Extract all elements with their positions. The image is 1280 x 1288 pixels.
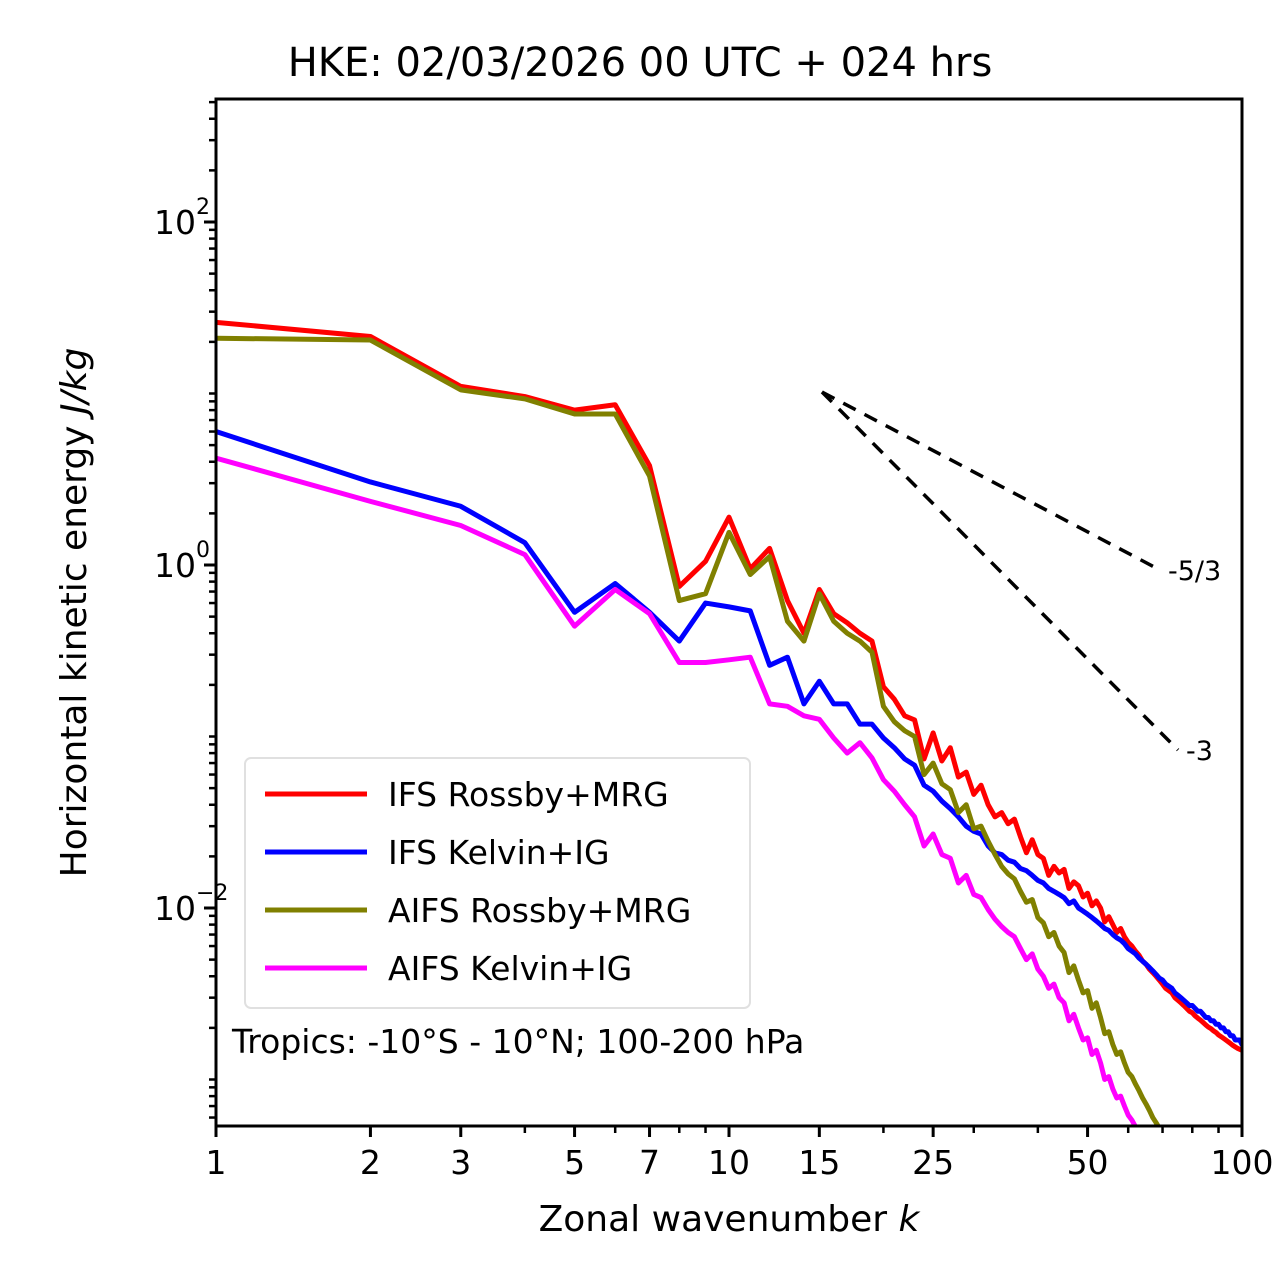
x-tick-label-3: 3 bbox=[450, 1143, 471, 1182]
y-tick-label-exponent: 2 bbox=[196, 195, 210, 220]
reference-slope-line-3 bbox=[822, 392, 1178, 750]
x-tick-label-50: 50 bbox=[1067, 1143, 1109, 1182]
x-tick-label-1: 1 bbox=[206, 1143, 227, 1182]
y-tick-label-exponent: 0 bbox=[196, 538, 210, 563]
x-tick-label-2: 2 bbox=[360, 1143, 381, 1182]
y-tick-label-mantissa: 10 bbox=[154, 203, 196, 242]
x-tick-label-10: 10 bbox=[708, 1143, 750, 1182]
y-axis-label: Horizontal kinetic energy J/kg bbox=[54, 348, 95, 878]
x-tick-label-7: 7 bbox=[639, 1143, 660, 1182]
reference-slope-label-53: -5/3 bbox=[1168, 556, 1221, 587]
region-annotation: Tropics: -10°S - 10°N; 100-200 hPa bbox=[231, 1022, 804, 1061]
spectrum-plot: -5/3-3123571015255010010210010−2Zonal wa… bbox=[0, 0, 1280, 1288]
x-tick-label-15: 15 bbox=[798, 1143, 840, 1182]
y-tick-label-mantissa: 10 bbox=[154, 889, 196, 928]
x-tick-label-25: 25 bbox=[912, 1143, 954, 1182]
legend-label-0[interactable]: IFS Rossby+MRG bbox=[388, 775, 669, 814]
chart-page: HKE: 02/03/2026 00 UTC + 024 hrs -5/3-31… bbox=[0, 0, 1280, 1288]
legend-label-3[interactable]: AIFS Kelvin+IG bbox=[388, 949, 632, 988]
legend-label-1[interactable]: IFS Kelvin+IG bbox=[388, 833, 610, 872]
x-tick-label-100: 100 bbox=[1211, 1143, 1274, 1182]
legend-label-2[interactable]: AIFS Rossby+MRG bbox=[388, 891, 691, 930]
x-tick-label-5: 5 bbox=[564, 1143, 585, 1182]
y-tick-label-exponent: −2 bbox=[196, 881, 228, 906]
x-axis-label: Zonal wavenumber k bbox=[539, 1199, 922, 1240]
y-tick-label-mantissa: 10 bbox=[154, 546, 196, 585]
reference-slope-line-53 bbox=[822, 392, 1160, 570]
reference-slope-label-3: -3 bbox=[1186, 736, 1213, 767]
